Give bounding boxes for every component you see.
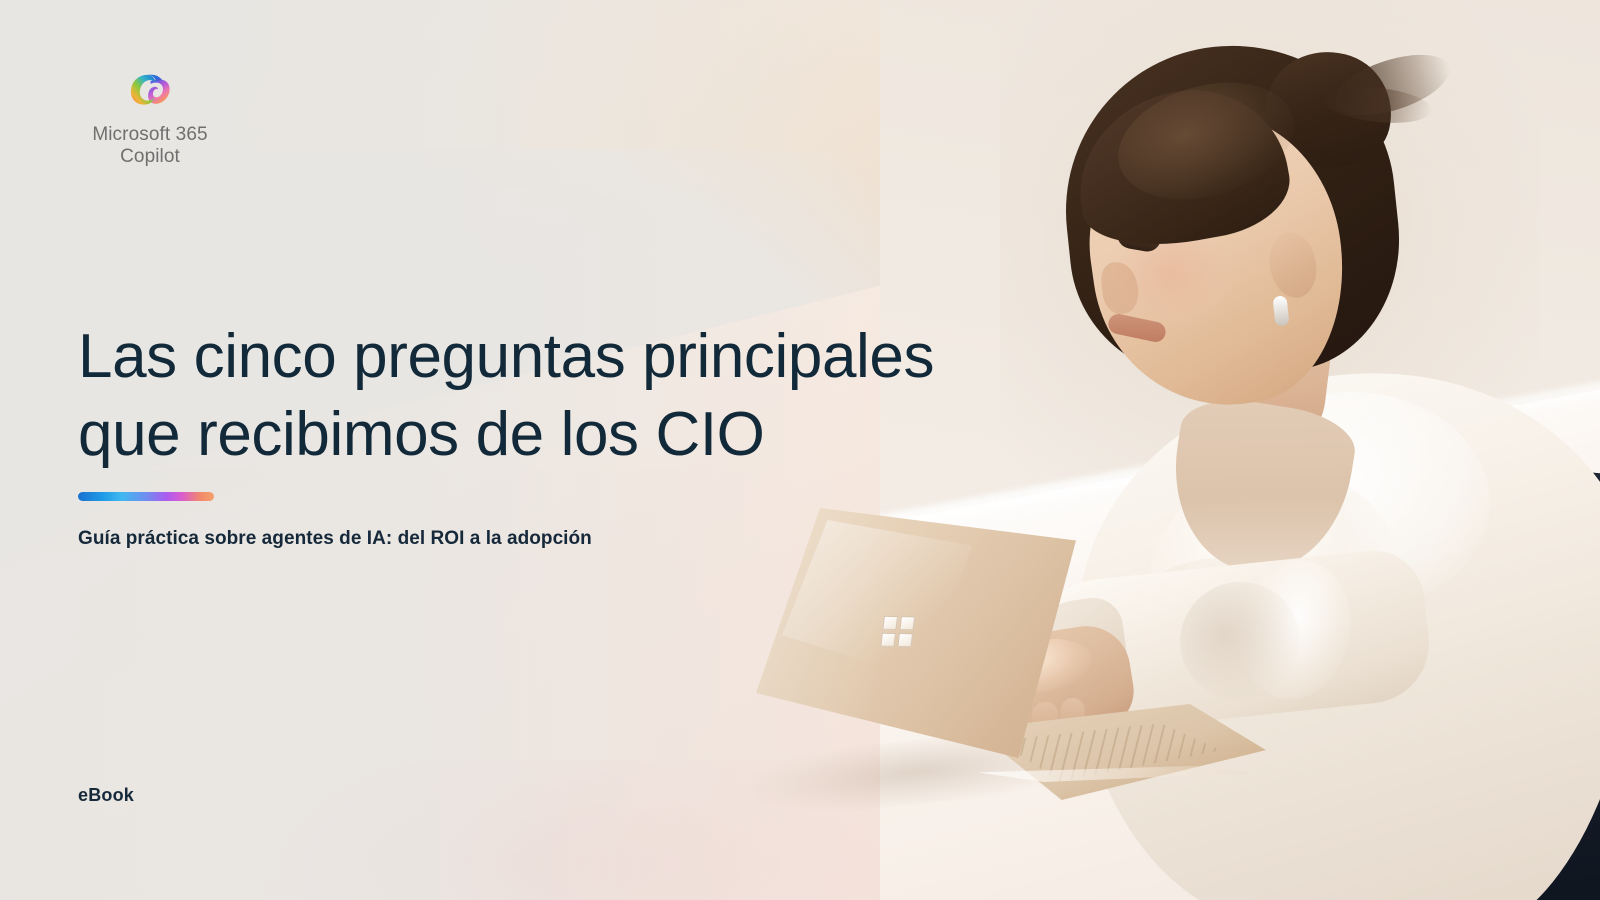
brand-lockup: Microsoft 365 Copilot	[68, 66, 232, 169]
cover-content: Microsoft 365 Copilot Las cinco pregunta…	[0, 0, 1600, 900]
ebook-cover: Microsoft 365 Copilot Las cinco pregunta…	[0, 0, 1600, 900]
brand-wordmark: Microsoft 365 Copilot	[68, 124, 232, 169]
microsoft-365-copilot-logo-icon	[125, 66, 175, 116]
accent-bar	[78, 492, 214, 501]
page-title: Las cinco preguntas principales que reci…	[78, 318, 978, 474]
document-type-label: eBook	[78, 785, 134, 806]
page-subtitle: Guía práctica sobre agentes de IA: del R…	[78, 528, 592, 550]
